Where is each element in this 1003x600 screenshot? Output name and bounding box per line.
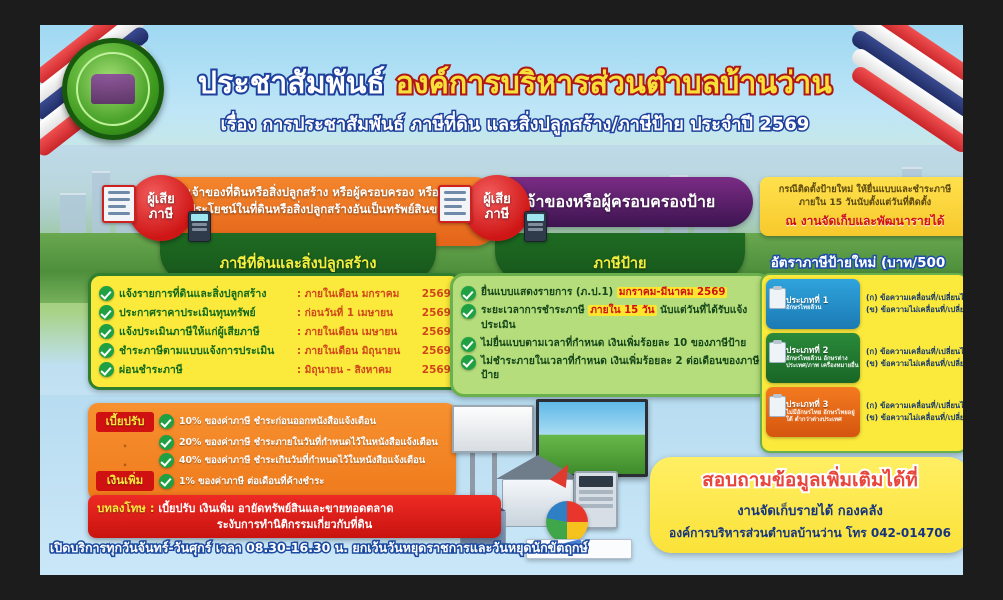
- category-1-desc: อักษรไทยล้วน: [786, 305, 828, 312]
- list-item: ผ่อนชำระภาษี : มิถุนายน - สิงหาคม 2569: [99, 361, 451, 378]
- list-item: ชำระภาษีตามแบบแจ้งการประเมิน : ภายในเดือ…: [99, 342, 451, 359]
- document-icon-land: [102, 185, 136, 223]
- check-icon: [461, 304, 476, 319]
- tab-land-tax-label: ภาษีที่ดินและสิ่งปลูกสร้าง: [220, 252, 377, 275]
- punishment-line-1: บทลงโทษ : เบี้ยปรับ เงินเพิ่ม อายัดทรัพย…: [97, 500, 492, 517]
- contact-heading: สอบถามข้อมูลเพิ่มเติมได้ที่: [660, 465, 960, 495]
- schedule-label: ผ่อนชำระภาษี: [119, 361, 297, 378]
- check-icon: [99, 286, 114, 301]
- punishment-bar: บทลงโทษ : เบี้ยปรับ เงินเพิ่ม อายัดทรัพย…: [88, 495, 501, 538]
- notice-line-1: กรณีติดตั้งป้ายใหม่ ให้ยื่นแบบและชำระภาษ…: [767, 183, 963, 196]
- check-icon: [159, 453, 174, 468]
- category-2-name: ประเภทที่ 2: [786, 346, 860, 355]
- list-item: แจ้งประเมินภาษีให้แก่ผู้เสียภาษี : ภายใน…: [99, 323, 451, 340]
- sign-rule-4: ไม่ชำระภายในเวลาที่กำหนด เงินเพิ่มร้อยละ…: [481, 355, 761, 385]
- clipboard-icon: [769, 288, 786, 309]
- list-item: ประกาศราคาประเมินทุนทรัพย์ : ก่อนวันที่ …: [99, 304, 451, 321]
- rate-options-3: (ก) ข้อความเคลื่อนที่/เปลี่ยนได้ (ข) ข้อ…: [860, 400, 963, 424]
- page-subtitle: เรื่อง การประชาสัมพันธ์ ภาษีที่ดิน และสิ…: [175, 109, 855, 138]
- check-icon: [99, 362, 114, 377]
- penalty-row-3: 40% ของค่าภาษี ชำระเกินวันที่กำหนดไว้ในห…: [179, 453, 448, 468]
- poster-header: ประชาสัมพันธ์ องค์การบริหารส่วนตำบลบ้านว…: [40, 25, 963, 137]
- check-icon: [159, 414, 174, 429]
- contact-org-phone[interactable]: องค์การบริหารส่วนตำบลบ้านว่าน โทร 042-01…: [660, 524, 960, 543]
- penalty-tag-fine: เบี้ยปรับ: [96, 412, 154, 432]
- check-icon: [159, 474, 174, 489]
- contact-box: สอบถามข้อมูลเพิ่มเติมได้ที่ งานจัดเก็บรา…: [650, 457, 963, 553]
- penalty-row-4: 1% ของค่าภาษี ต่อเดือนที่ค้างชำระ: [179, 474, 448, 489]
- schedule-year: 2569: [417, 345, 451, 357]
- page-title: ประชาสัมพันธ์ องค์การบริหารส่วนตำบลบ้านว…: [175, 69, 855, 99]
- check-icon: [461, 286, 476, 301]
- rate-options-2: (ก) ข้อความเคลื่อนที่/เปลี่ยนได้ (ข) ข้อ…: [860, 346, 963, 370]
- schedule-year: 2569: [417, 364, 451, 376]
- penalty-tag-spacer: .: [96, 434, 154, 450]
- rate-category-3: ประเภทที่ 3 ไม่มีอักษรไทย อักษรไทยอยู่ใต…: [766, 387, 860, 437]
- rate-option-a: (ก) ข้อความเคลื่อนที่/เปลี่ยนได้: [866, 292, 963, 304]
- penalty-tag-spacer: .: [96, 453, 154, 469]
- new-sign-notice-box: กรณีติดตั้งป้ายใหม่ ให้ยื่นแบบและชำระภาษ…: [760, 177, 963, 236]
- punishment-line-2: ระงับการทำนิติกรรมเกี่ยวกับที่ดิน: [97, 517, 492, 533]
- penalty-row-1: 10% ของค่าภาษี ชำระก่อนออกหนังสือแจ้งเตื…: [179, 414, 448, 429]
- notice-highlight: ณ งานจัดเก็บและพัฒนารายได้: [767, 212, 963, 231]
- rate-option-b: (ข) ข้อความไม่เคลื่อนที่/เปลี่ยนไม่ได้: [866, 304, 963, 316]
- taxpayer-badge-sign: ผู้เสีย ภาษี: [464, 175, 530, 241]
- document-icon-sign: [438, 185, 472, 223]
- schedule-date: : ภายในเดือน เมษายน: [297, 324, 417, 340]
- check-icon: [99, 305, 114, 320]
- rate-options-1: (ก) ข้อความเคลื่อนที่/เปลี่ยนได้ (ข) ข้อ…: [860, 292, 963, 316]
- rate-option-b: (ข) ข้อความไม่เคลื่อนที่/เปลี่ยนไม่ได้: [866, 412, 963, 424]
- poster-canvas: ประชาสัมพันธ์ องค์การบริหารส่วนตำบลบ้านว…: [40, 25, 963, 575]
- punishment-text-1: เบี้ยปรับ เงินเพิ่ม อายัดทรัพย์สินและขาย…: [154, 502, 393, 515]
- land-tax-schedule-list: แจ้งรายการที่ดินและสิ่งปลูกสร้าง : ภายใน…: [88, 273, 462, 390]
- check-icon: [461, 355, 476, 370]
- list-item: เงินเพิ่ม 1% ของค่าภาษี ต่อเดือนที่ค้างช…: [96, 471, 448, 491]
- thai-flag-ribbon-right: [865, 25, 957, 137]
- penalty-row-2: 20% ของค่าภาษี ชำระภายในวันที่กำหนดไว้ใน…: [179, 435, 448, 450]
- rate-option-a: (ก) ข้อความเคลื่อนที่/เปลี่ยนได้: [866, 400, 963, 412]
- penalty-box: เบี้ยปรับ 10% ของค่าภาษี ชำระก่อนออกหนัง…: [88, 403, 456, 500]
- taxpayer-badge-land: ผู้เสีย ภาษี: [128, 175, 194, 241]
- land-taxpayer-text: เจ้าของที่ดินหรือสิ่งปลูกสร้าง หรือผู้คร…: [188, 185, 462, 216]
- rate-option-b: (ข) ข้อความไม่เคลื่อนที่/เปลี่ยนไม่ได้: [866, 358, 963, 370]
- title-part-1: ประชาสัมพันธ์: [198, 66, 396, 101]
- schedule-date: : มิถุนายน - สิงหาคม: [297, 362, 417, 378]
- clipboard-icon: [769, 342, 786, 363]
- list-item: . 20% ของค่าภาษี ชำระภายในวันที่กำหนดไว้…: [96, 434, 448, 450]
- calculator-icon-sign: [524, 211, 547, 242]
- list-item: แจ้งรายการที่ดินและสิ่งปลูกสร้าง : ภายใน…: [99, 285, 451, 302]
- taxpayer-badge-sign-line1: ผู้เสีย: [483, 193, 511, 208]
- list-item: เบี้ยปรับ 10% ของค่าภาษี ชำระก่อนออกหนัง…: [96, 412, 448, 432]
- table-row: ประเภทที่ 2 อักษรไทยล้วน อักษรต่างประเทศ…: [766, 333, 962, 383]
- organization-seal-icon: [62, 38, 164, 140]
- sign-tax-rate-table: ประเภทที่ 1 อักษรไทยล้วน (ก) ข้อความเคลื…: [760, 273, 963, 453]
- calculator-icon-land: [188, 211, 211, 242]
- check-icon: [99, 343, 114, 358]
- list-item: ไม่ชำระภายในเวลาที่กำหนด เงินเพิ่มร้อยละ…: [461, 355, 761, 385]
- penalty-tag-surcharge: เงินเพิ่ม: [96, 471, 154, 491]
- list-item: ยื่นแบบแสดงรายการ (ภ.ป.1) มกราคม-มีนาคม …: [461, 286, 761, 301]
- taxpayer-badge-line2: ภาษี: [149, 208, 173, 223]
- category-2-desc: อักษรไทยล้วน อักษรต่างประเทศ/ภาพ เครื่อง…: [786, 356, 860, 370]
- title-part-2: องค์การบริหารส่วนตำบลบ้านว่าน: [396, 66, 832, 101]
- schedule-date: : ภายในเดือน มิถุนายน: [297, 343, 417, 359]
- schedule-label: ประกาศราคาประเมินทุนทรัพย์: [119, 304, 297, 321]
- notice-line-2: ภายใน 15 วันนับตั้งแต่วันที่ติดตั้ง: [767, 196, 963, 209]
- category-3-desc: ไม่มีอักษรไทย อักษรไทยอยู่ใต้ ต่ำกว่าต่า…: [786, 410, 860, 424]
- rate-option-a: (ก) ข้อความเคลื่อนที่/เปลี่ยนได้: [866, 346, 963, 358]
- check-icon: [461, 337, 476, 352]
- sign-rule-2: ระยะเวลาการชำระภาษี ภายใน 15 วัน นับแต่ว…: [481, 304, 761, 334]
- table-row: ประเภทที่ 1 อักษรไทยล้วน (ก) ข้อความเคลื…: [766, 279, 962, 329]
- category-3-name: ประเภทที่ 3: [786, 400, 860, 409]
- contact-office: งานจัดเก็บรายได้ กองคลัง: [660, 500, 960, 521]
- schedule-label: แจ้งรายการที่ดินและสิ่งปลูกสร้าง: [119, 285, 297, 302]
- category-1-name: ประเภทที่ 1: [786, 296, 828, 305]
- schedule-year: 2569: [417, 326, 451, 338]
- sign-tax-rules-list: ยื่นแบบแสดงรายการ (ภ.ป.1) มกราคม-มีนาคม …: [450, 273, 772, 397]
- taxpayer-badge-sign-line2: ภาษี: [485, 208, 509, 223]
- schedule-label: แจ้งประเมินภาษีให้แก่ผู้เสียภาษี: [119, 323, 297, 340]
- check-icon: [159, 435, 174, 450]
- punishment-heading: บทลงโทษ :: [97, 501, 154, 515]
- sign-rule-1: ยื่นแบบแสดงรายการ (ภ.ป.1) มกราคม-มีนาคม …: [481, 286, 761, 301]
- schedule-year: 2569: [417, 307, 451, 319]
- schedule-date: : ภายในเดือน มกราคม: [297, 286, 417, 302]
- sign-rule-1-highlight: มกราคม-มีนาคม 2569: [617, 287, 728, 298]
- table-row: ประเภทที่ 3 ไม่มีอักษรไทย อักษรไทยอยู่ใต…: [766, 387, 962, 437]
- check-icon: [99, 324, 114, 339]
- clipboard-icon: [769, 396, 786, 417]
- rate-category-2: ประเภทที่ 2 อักษรไทยล้วน อักษรต่างประเทศ…: [766, 333, 860, 383]
- sign-rule-3: ไม่ยื่นแบบตามเวลาที่กำหนด เงินเพิ่มร้อยล…: [481, 337, 761, 352]
- list-item: ไม่ยื่นแบบตามเวลาที่กำหนด เงินเพิ่มร้อยล…: [461, 337, 761, 352]
- list-item: ระยะเวลาการชำระภาษี ภายใน 15 วัน นับแต่ว…: [461, 304, 761, 334]
- blank-billboard: [452, 405, 534, 453]
- taxpayer-badge-line1: ผู้เสีย: [147, 193, 175, 208]
- service-hours-text: เปิดบริการทุกวันจันทร์-วันศุกร์ เวลา 08.…: [50, 538, 588, 558]
- sign-taxpayer-text: เจ้าของหรือผู้ครอบครองป้าย: [521, 190, 716, 215]
- schedule-label: ชำระภาษีตามแบบแจ้งการประเมิน: [119, 342, 297, 359]
- schedule-date: : ก่อนวันที่ 1 เมษายน: [297, 305, 417, 321]
- service-hours-bar: เปิดบริการทุกวันจันทร์-วันศุกร์ เวลา 08.…: [40, 535, 653, 561]
- list-item: . 40% ของค่าภาษี ชำระเกินวันที่กำหนดไว้ใ…: [96, 453, 448, 469]
- sign-rule-2-highlight: ภายใน 15 วัน: [588, 305, 656, 316]
- tab-sign-tax-label: ภาษีป้าย: [593, 252, 646, 275]
- rate-category-1: ประเภทที่ 1 อักษรไทยล้วน: [766, 279, 860, 329]
- schedule-year: 2569: [417, 288, 451, 300]
